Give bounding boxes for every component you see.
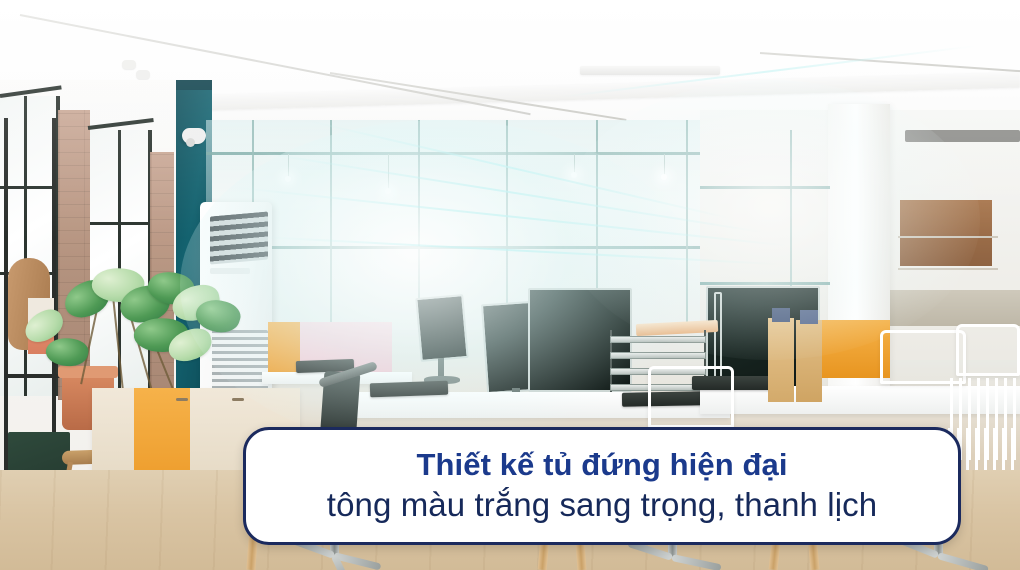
cctv-camera-icon [182, 128, 206, 144]
caption-subline: tông màu trắng sang trọng, thanh lịch [327, 487, 877, 524]
terracotta-pot-rim [58, 366, 118, 378]
pendant-stem [388, 154, 389, 190]
desk-divider [768, 318, 794, 402]
pendant-light [385, 188, 391, 194]
ceiling-cable-node [122, 60, 136, 69]
shelf-board [4, 374, 60, 378]
kitchen-shelf [898, 236, 998, 238]
pendant-stem [288, 154, 289, 178]
kitchen-wood-panel [900, 200, 992, 266]
glass-partition-rail [700, 186, 830, 189]
desk-divider [796, 320, 822, 402]
mesh-chair [880, 330, 966, 384]
desk-folder [772, 308, 790, 322]
pendant-stem [574, 154, 575, 174]
pendant-light [661, 174, 667, 180]
monitor-stand [438, 358, 444, 378]
glass-partition-rail [700, 282, 830, 285]
ceiling-duct [905, 130, 1020, 142]
window-mullion [0, 186, 60, 189]
caption-card: Thiết kế tủ đứng hiện đại tông màu trắng… [243, 427, 961, 545]
pendant-light [285, 176, 291, 182]
ceiling-cable-node [136, 70, 150, 79]
glass-partition-mullion [506, 120, 508, 332]
glass-partition-rail [206, 246, 766, 249]
teal-column-cap [176, 80, 212, 90]
mesh-chair [648, 366, 734, 428]
monitor [415, 294, 468, 362]
cabinet-handle [176, 398, 188, 401]
pendant-light [571, 172, 577, 178]
caption-headline: Thiết kế tủ đứng hiện đại [416, 448, 787, 481]
document-tray [610, 352, 706, 359]
desk-folder [800, 310, 818, 324]
pendant-stem [664, 154, 665, 176]
window-mullion [90, 222, 152, 225]
glass-partition-mullion [330, 120, 332, 332]
kitchen-counter [890, 290, 1020, 326]
kitchen-shelf [898, 268, 998, 270]
air-conditioner-top-louvers [210, 211, 268, 264]
window-mullion [24, 96, 27, 396]
document-tray [610, 336, 706, 343]
air-conditioner-control-panel [210, 268, 250, 274]
ceiling-light-fixture [580, 66, 720, 75]
glass-partition-rail [206, 152, 766, 155]
cabinet-handle [232, 398, 244, 401]
keyboard [370, 381, 448, 398]
screenshot-root: Thiết kế tủ đứng hiện đại tông màu trắng… [0, 0, 1020, 570]
mesh-chair [956, 324, 1020, 376]
glass-partition-mullion [686, 120, 688, 332]
